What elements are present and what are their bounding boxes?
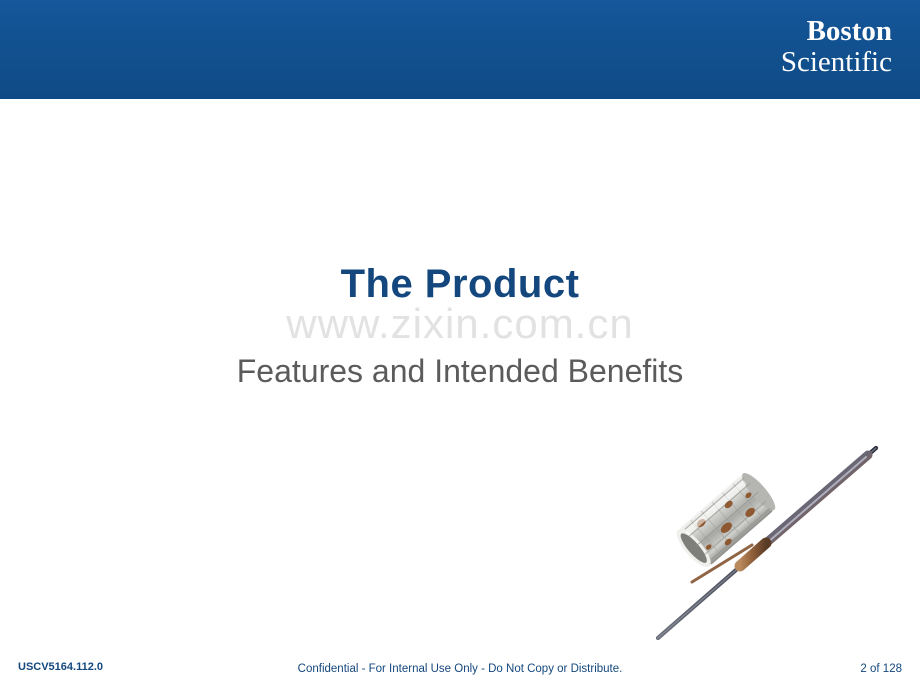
logo-line-boston: Boston [781, 17, 892, 46]
watermark-text: www.zixin.com.cn [0, 300, 920, 348]
footer-page-number: 2 of 128 [860, 663, 902, 675]
slide-canvas: Boston Scientific www.zixin.com.cn The P… [0, 0, 920, 690]
stent-delivery-system-illustration [640, 430, 890, 650]
footer-confidentiality-notice: Confidential - For Internal Use Only - D… [0, 663, 920, 675]
slide-subtitle: Features and Intended Benefits [0, 353, 920, 390]
slide-title: The Product [0, 262, 920, 307]
logo-line-scientific: Scientific [781, 48, 892, 77]
header-band: Boston Scientific [0, 0, 920, 99]
boston-scientific-logo: Boston Scientific [781, 17, 892, 77]
